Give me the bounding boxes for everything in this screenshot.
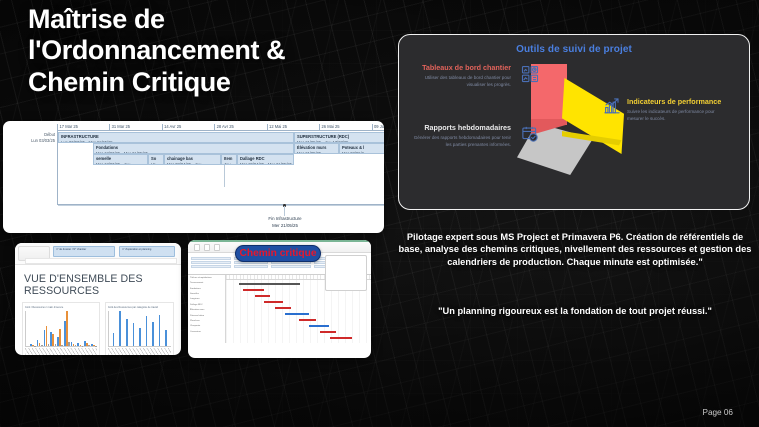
infographic-block-kpi: Indicateurs de performance Suivre les in… [627,97,725,122]
chart-bar-group [44,311,50,346]
calendar-check-icon [521,125,539,143]
gantt-bar: Élévation murs Mer 21/05/25 - [294,143,339,154]
ribbon-icon [214,244,220,251]
critical-task-bar [320,331,336,333]
gantt-bar: Fondations Mar 18/03/25 - Mer 21/05/25 [93,143,294,154]
critical-path-badge: Chemin critique [235,245,321,262]
chart-bar [119,311,121,346]
chart-bar [55,344,57,346]
detail-panel [325,255,367,291]
task-name-cell: Charpente [190,325,223,328]
critical-task-bar [299,319,316,321]
gantt-bar-dates: Mar 08/04/25 - Jeu [167,162,218,165]
filter-box: n° de dossier / N° chantier [53,246,115,257]
block-heading: Indicateurs de performance [627,97,725,106]
chart-bar-group [146,311,152,346]
chart-bar [146,316,148,346]
chart-bar-group [126,311,132,346]
formula-bar [25,258,177,264]
critical-task-bar [275,307,291,309]
gantt-bar: Poteaux & l Mar 03/06/2 [339,143,384,154]
task-name-column: Tâches récapitulativesTerrassementFondat… [188,275,226,343]
gantt-bar: SUPERSTRUCTURE (RDC) Mer 21/05/25 - Jeu … [294,132,384,143]
gantt-start-date: Lun 03/03/25 [6,138,55,144]
chart-bar-group [119,311,125,346]
gantt-bar: Item Jeu [221,154,237,165]
gantt-bar: So Ve [148,154,164,165]
critical-task-bar [309,325,329,327]
page-number: Page 06 [702,408,733,417]
chart-bar-group [71,311,77,346]
resources-overview-screenshot: n° de dossier / N° chantier n° d'opérati… [15,243,181,355]
chart-bar [68,342,70,346]
project-tracking-infographic: Outils de suivi de projet Tableaux de bo… [398,34,750,210]
infographic-block-reports: Rapports hebdomadaires Générer des rappo… [413,123,511,148]
chart-bar-group [57,311,63,346]
chart-bar-group [165,311,171,346]
ribbon-icon [194,244,200,251]
dashboard-grid-icon [521,65,539,83]
resources-toolbar: n° de dossier / N° chantier n° d'opérati… [15,243,181,265]
block-description: Générer des rapports hebdomadaires pour … [413,135,511,148]
block-description: Utiliser des tableaux de bord chantier p… [413,75,511,88]
gantt-bar-dates: Mar 29/04/25 - Mer 21/05/25 [240,162,291,165]
infographic-title: Outils de suivi de projet [399,44,749,55]
infographic-block-dashboards: Tableaux de bord chantier Utiliser des t… [413,63,511,88]
gantt-milestone-date: Mer 21/05/25 [250,223,320,230]
chart-bar [133,323,135,346]
block-heading: Rapports hebdomadaires [413,123,511,132]
chart-bar-group [30,311,36,346]
chart-bar [41,345,43,346]
critical-task-bar [330,337,352,339]
resources-title: VUE D'ENSEMBLE DES RESSOURCES [15,265,181,302]
chart-bar [66,311,68,346]
ribbon-icon [204,244,210,251]
gantt-milestone-label: Fin Infrastructure Mer 21/05/25 [250,216,320,229]
chart-bar-group [113,311,119,346]
chart-plot-area [25,311,97,347]
critical-task-bar [243,289,263,291]
gantt-bar-dates: Ve [151,162,161,165]
gantt-chart-screenshot: Début Lun 03/03/25 17 Mar 25 31 Mar 25 1… [3,121,384,233]
chart-bar-group [84,311,90,346]
quote-text: "Un planning rigoureux est la fondation … [394,305,756,317]
chart-bar-group [91,311,97,346]
chart-x-labels [25,348,97,355]
task-name-cell: Terrassement [190,282,223,285]
filter-box: n° d'opération et planning [119,246,175,257]
gantt-bar-dates: Mar 18/03/25 - Jeu [96,162,145,165]
gantt-milestone-connector [224,165,225,187]
gantt-bar: chainage bas Mar 08/04/25 - Jeu [164,154,221,165]
critical-task-bar [264,301,283,303]
chart-bar [48,344,50,346]
gantt-baseline [58,205,384,206]
chart-bar [159,315,161,346]
task-name-cell: Poteaux béton [190,315,223,318]
chart-bar-group [139,311,145,346]
chart-caption: Coût / Ressources / main d'oeuvre [25,306,97,309]
task-name-cell: Couverture [190,331,223,334]
chart-bar [152,322,154,346]
task-name-cell: Dallage RDC [190,304,223,307]
chart-bar-group [133,311,139,346]
chart-bar-group [37,311,43,346]
block-heading: Tableaux de bord chantier [413,63,511,72]
body-paragraph: Pilotage expert sous MS Project et Prima… [394,231,756,268]
chart-bar-group [50,311,56,346]
gantt-wrap: Début Lun 03/03/25 17 Mar 25 31 Mar 25 1… [3,121,384,233]
gantt-bar-dates: Mer 21/05/25 - [297,151,336,154]
gantt-bar: Dallage RDC Mar 29/04/25 - Mer 21/05/25 [237,154,294,165]
chart-bar-group [64,311,70,346]
chart-bar [75,345,77,346]
block-description: Suivre les indicateurs de performance po… [627,109,725,122]
critical-task-bar [285,313,308,315]
chart-bar [165,330,167,346]
chart-caption: Coût des Ressources par catégorie de tra… [108,306,171,309]
chart-x-labels [108,348,171,355]
chart-bar [88,345,90,346]
critical-path-screenshot: Chemin critique Tâches récapitulativesTe… [188,240,371,358]
resources-charts: Coût / Ressources / main d'oeuvre Travai… [15,302,181,355]
task-name-cell: Longrines [190,298,223,301]
chart-bar [61,345,63,346]
ribbon-accent [188,240,371,242]
chart-bar [59,329,61,346]
page-title: Maîtrise de l'Ordonnancement & Chemin Cr… [28,4,388,98]
critical-task-bar [255,295,270,297]
gantt-start-marker: Début Lun 03/03/25 [6,132,55,144]
critical-task-bar [239,283,300,285]
gantt-milestone-title: Fin Infrastructure [250,216,320,223]
gantt-bar-dates: Jeu [224,162,234,165]
chart-bar [126,319,128,346]
chart-bar-group [152,311,158,346]
task-name-cell: Semelles [190,293,223,296]
gantt-bar: INFRASTRUCTURE Lun 03/03/25 - Mer 21/05/… [58,132,294,143]
task-name-cell: Tâches récapitulatives [190,277,223,280]
task-name-cell: Planchers [190,320,223,323]
gantt-milestone-stem [284,206,285,216]
gantt-bar-dates: Mar 03/06/2 [342,151,383,154]
chart-plot-area [108,311,171,347]
task-name-cell: Fondations [190,288,223,291]
chart-bar [139,328,141,346]
chart-bar [113,333,115,346]
bar-chart-trend-icon [603,97,621,115]
chart-bar-group [77,311,83,346]
resource-chart-2: Coût des Ressources par catégorie de tra… [105,302,174,355]
slide-root: Maîtrise de l'Ordonnancement & Chemin Cr… [0,0,759,427]
gantt-bar: semelle Mar 18/03/25 - Jeu [93,154,148,165]
task-name-cell: Élévation murs [190,309,223,312]
chart-bar-group [159,311,165,346]
resource-chart-1: Coût / Ressources / main d'oeuvre Travai… [22,302,100,355]
